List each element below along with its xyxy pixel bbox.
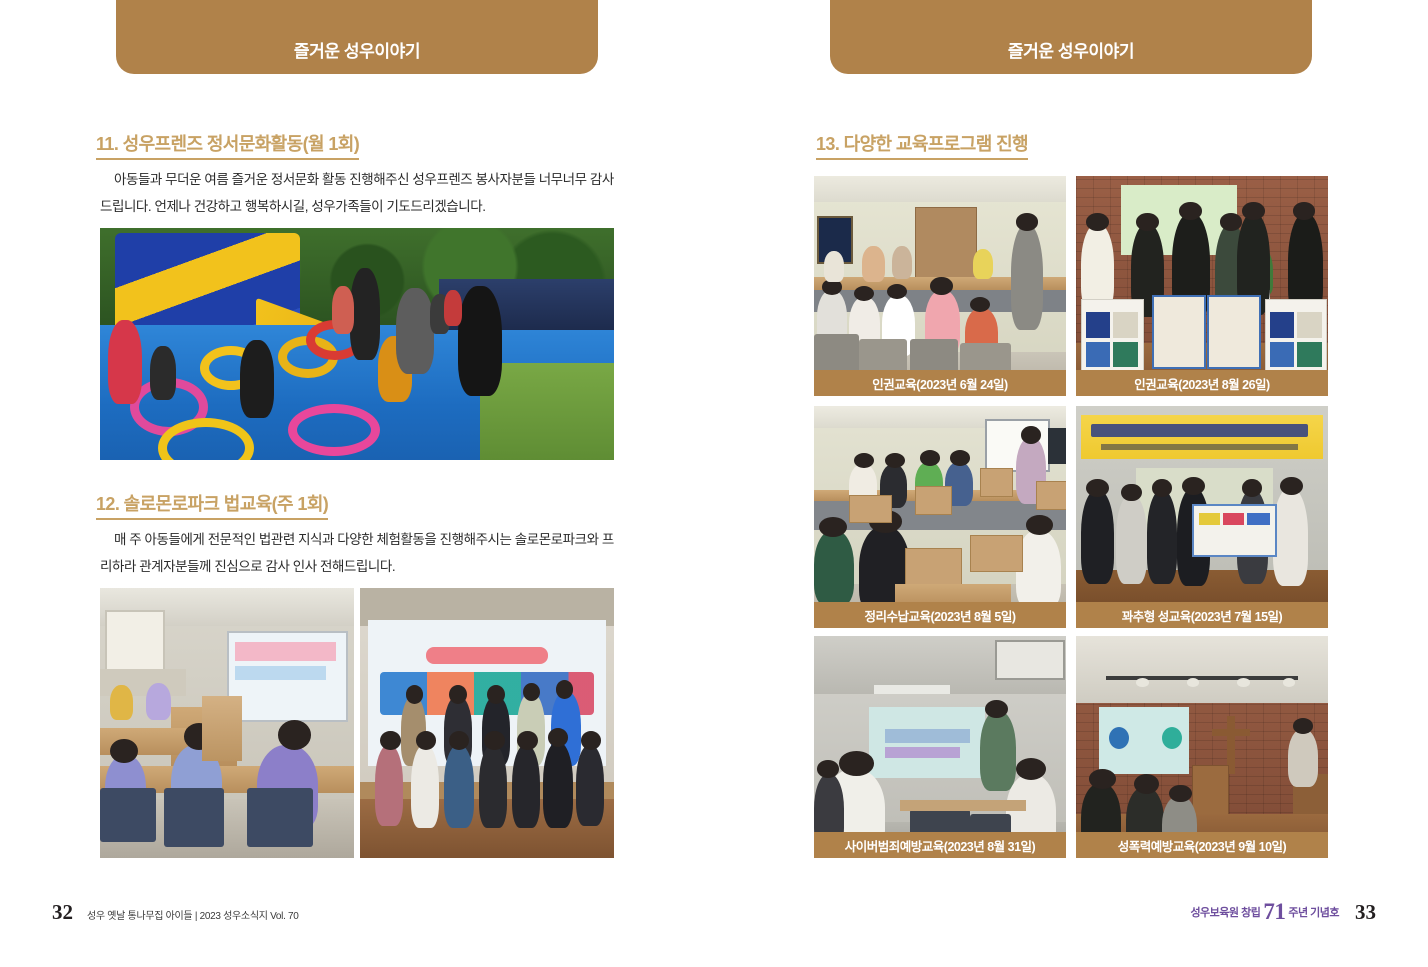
pool-party-photo (100, 228, 614, 460)
left-footer-text: 성우 옛날 통나무집 아이들 | 2023 성우소식지 Vol. 70 (87, 907, 299, 922)
brand-number: 71 (1263, 903, 1285, 921)
section-body-11: 아동들과 무더운 여름 즐거운 정서문화 활동 진행해주신 성우프렌즈 봉사자분… (100, 166, 614, 220)
right-page-footer: 성우보육원 창립 71 주년 기념호 33 (1190, 900, 1376, 925)
left-banner-title: 즐거운 성우이야기 (294, 37, 420, 62)
organizing-education-photo: 정리수납교육(2023년 8월 5일) (814, 406, 1066, 628)
section-heading-13: 13. 다양한 교육프로그램 진행 (816, 130, 1028, 160)
cyber-crime-education-photo: 사이버범죄예방교육(2023년 8월 31일) (814, 636, 1066, 858)
human-rights-august-photo: 인권교육(2023년 8월 26일) (1076, 176, 1328, 396)
law-group-photo (360, 588, 614, 858)
section-heading-11: 11. 성우프렌즈 정서문화활동(월 1회) (96, 130, 359, 160)
right-page: 즐거운 성우이야기 13. 다양한 교육프로그램 진행 (714, 0, 1428, 967)
section-body-12: 매 주 아동들에게 전문적인 법관련 지식과 다양한 체험활동을 진행해주시는 … (100, 526, 614, 580)
right-page-banner: 즐거운 성우이야기 (830, 0, 1312, 74)
photo-caption: 인권교육(2023년 8월 26일) (1076, 370, 1328, 396)
magazine-spread: 즐거운 성우이야기 11. 성우프렌즈 정서문화활동(월 1회) 아동들과 무더… (0, 0, 1428, 967)
left-page-footer: 32 성우 옛날 통나무집 아이들 | 2023 성우소식지 Vol. 70 (52, 900, 299, 925)
section-heading-12: 12. 솔로몬로파크 법교육(주 1회) (96, 490, 328, 520)
photo-caption: 성폭력예방교육(2023년 9월 10일) (1076, 832, 1328, 858)
left-page-banner: 즐거운 성우이야기 (116, 0, 598, 74)
photo-caption: 사이버범죄예방교육(2023년 8월 31일) (814, 832, 1066, 858)
law-lecture-photo (100, 588, 354, 858)
sexual-violence-education-photo: 성폭력예방교육(2023년 9월 10일) (1076, 636, 1328, 858)
photo-caption: 꽈추형 성교육(2023년 7월 15일) (1076, 602, 1328, 628)
right-page-number: 33 (1355, 900, 1376, 925)
brand-prefix: 성우보육원 창립 (1190, 904, 1260, 920)
left-page-number: 32 (52, 900, 73, 925)
sex-education-photo: 꽈추형 성교육(2023년 7월 15일) (1076, 406, 1328, 628)
right-banner-title: 즐거운 성우이야기 (1008, 37, 1134, 62)
brand-suffix: 주년 기념호 (1288, 904, 1339, 920)
photo-caption: 인권교육(2023년 6월 24일) (814, 370, 1066, 396)
left-page: 즐거운 성우이야기 11. 성우프렌즈 정서문화활동(월 1회) 아동들과 무더… (0, 0, 714, 967)
photo-caption: 정리수납교육(2023년 8월 5일) (814, 602, 1066, 628)
human-rights-june-photo: 인권교육(2023년 6월 24일) (814, 176, 1066, 396)
anniversary-brand: 성우보육원 창립 71 주년 기념호 (1190, 903, 1339, 921)
